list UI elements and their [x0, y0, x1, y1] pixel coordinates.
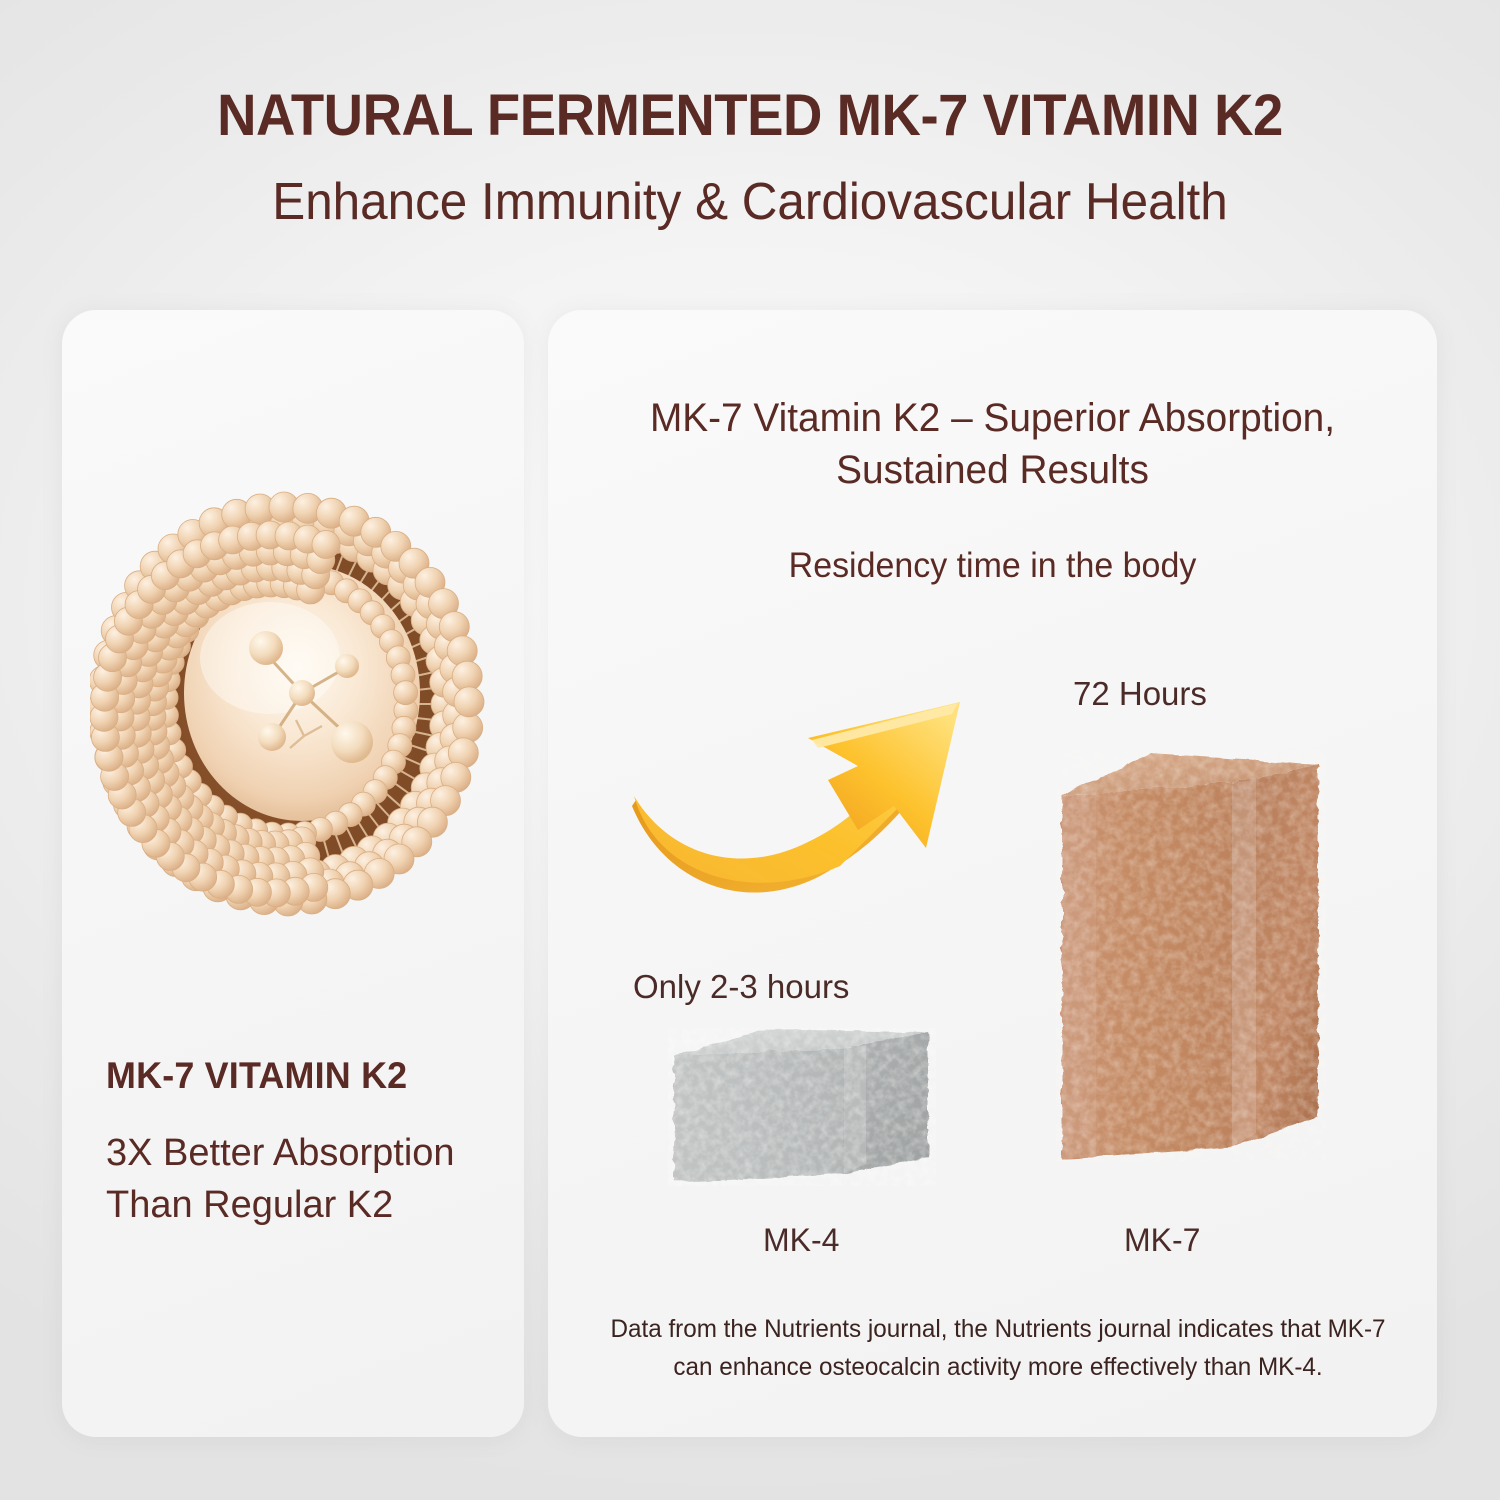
page-title: NATURAL FERMENTED MK-7 VITAMIN K2 — [45, 86, 1455, 145]
page-header: NATURAL FERMENTED MK-7 VITAMIN K2 Enhanc… — [0, 0, 1500, 230]
mk7-bar — [1056, 743, 1326, 1167]
mk4-bar — [668, 1024, 936, 1196]
liposome-cross-section-icon — [90, 488, 496, 928]
growth-arrow-icon — [626, 688, 986, 903]
right-panel: MK-7 Vitamin K2 – Superior Absorption, S… — [548, 310, 1437, 1437]
chart-footnote: Data from the Nutrients journal, the Nut… — [610, 1310, 1386, 1386]
right-panel-subheading: Residency time in the body — [602, 546, 1383, 586]
left-panel-heading: MK-7 VITAMIN K2 — [106, 1055, 484, 1097]
residency-time-bar-chart: 72 Hours Only 2-3 hours — [548, 650, 1437, 1290]
mk4-category-label: MK-4 — [763, 1222, 839, 1259]
left-panel-body: 3X Better Absorption Than Regular K2 — [106, 1128, 506, 1231]
right-panel-heading: MK-7 Vitamin K2 – Superior Absorption, S… — [602, 392, 1383, 496]
mk4-value-label: Only 2-3 hours — [633, 968, 849, 1006]
mk7-category-label: MK-7 — [1124, 1222, 1200, 1259]
mk7-value-label: 72 Hours — [1073, 675, 1207, 713]
page-subtitle: Enhance Immunity & Cardiovascular Health — [38, 145, 1463, 230]
left-panel: MK-7 VITAMIN K2 3X Better Absorption Tha… — [62, 310, 524, 1437]
